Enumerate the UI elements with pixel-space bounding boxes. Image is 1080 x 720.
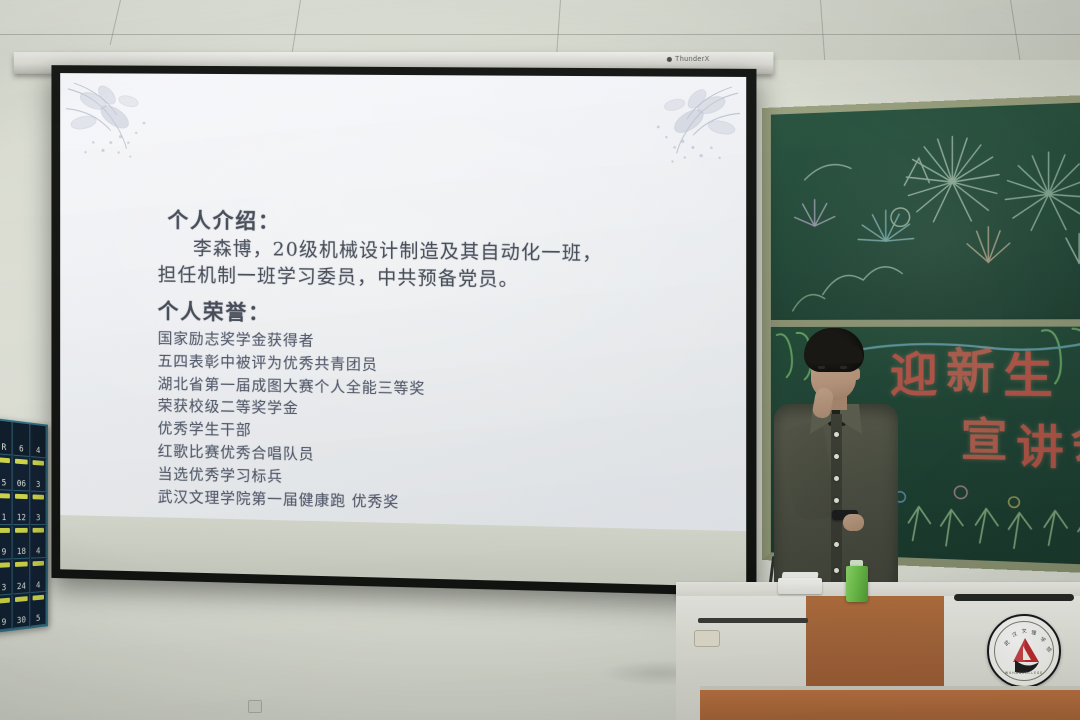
- number-cell: 24: [14, 560, 30, 594]
- shirt-button: [834, 476, 839, 481]
- blackboard-chalk-character: 新: [946, 347, 995, 395]
- number-cell: 9: [0, 526, 13, 560]
- podium-control-panel[interactable]: [694, 630, 720, 647]
- presenter-eye-left: [818, 366, 825, 369]
- number-cell: 18: [14, 526, 30, 560]
- projected-slide: 个人介绍： 李森博，20级机械设计制造及其自动化一班， 担任机制一班学习委员，中…: [60, 73, 746, 531]
- list-item: 武汉文理学院第一届健康跑 优秀奖: [158, 485, 426, 514]
- presenter-hand-holding: [843, 514, 864, 531]
- housing-brand-label: ThunderX: [667, 56, 710, 63]
- shirt-button: [834, 454, 839, 459]
- slide-body-line-2: 担任机制一班学习委员，中共预备党员。: [158, 262, 519, 294]
- number-cell: 3: [0, 561, 13, 596]
- presenter-eye-right: [840, 366, 847, 369]
- podium-dark-strip: [954, 594, 1074, 601]
- number-cell: R: [0, 420, 13, 456]
- number-cell: 5: [31, 592, 47, 626]
- number-cell: 4: [31, 559, 47, 593]
- shirt-button: [834, 568, 839, 573]
- slide-text-block: 个人介绍： 李森博，20级机械设计制造及其自动化一班， 担任机制一班学习委员，中…: [60, 73, 746, 531]
- firework-chalk-icon: [771, 101, 1080, 320]
- projection-screen-frame: 个人介绍： 李森博，20级机械设计制造及其自动化一班， 担任机制一班学习委员，中…: [51, 65, 756, 596]
- blackboard-chalk-character: 讲: [1016, 425, 1064, 472]
- podium-handle-slot[interactable]: [698, 618, 808, 623]
- slide-heading-honors: 个人荣誉：: [158, 295, 271, 326]
- number-cell: 6: [14, 422, 30, 457]
- blackboard-upper-panel: [771, 102, 1080, 320]
- svg-text:汉: 汉: [1011, 630, 1019, 638]
- wall-number-board: R 6 4 5 06 3 1 12 3 9 18 4 3 24 4 9 30 5: [0, 418, 48, 633]
- number-cell: 3: [31, 458, 47, 492]
- shirt-button: [834, 498, 839, 503]
- classroom-scene: R 6 4 5 06 3 1 12 3 9 18 4 3 24 4 9 30 5: [0, 0, 1080, 720]
- slide-honors-list: 国家励志奖学金获得者 五四表彰中被评为优秀共青团员 湖北省第一届成图大赛个人全能…: [158, 327, 426, 514]
- blackboard-chalk-character: 会: [1070, 419, 1080, 466]
- number-cell: 06: [14, 457, 30, 491]
- dot-icon: [667, 57, 672, 62]
- number-cell: 1: [0, 491, 13, 525]
- svg-text:院: 院: [1045, 645, 1053, 654]
- svg-text:文: 文: [1021, 627, 1027, 635]
- wall-socket: [248, 700, 262, 713]
- svg-text:武: 武: [1003, 639, 1011, 648]
- svg-text:W U H A N C O L L E G E: W U H A N C O L L E G E: [1005, 671, 1042, 675]
- white-device-box-icon: [778, 578, 822, 594]
- slide-heading-introduction: 个人介绍：: [168, 204, 281, 235]
- number-cell: 9: [0, 595, 13, 631]
- number-cell: 4: [31, 424, 47, 458]
- svg-text:学: 学: [1039, 636, 1047, 645]
- number-cell: 12: [14, 491, 30, 525]
- presenter-person: [770, 328, 902, 600]
- shirt-button: [834, 432, 839, 437]
- number-cell: 5: [0, 455, 13, 490]
- svg-text:理: 理: [1031, 630, 1037, 637]
- green-beverage-bottle-icon: [846, 566, 868, 602]
- number-cell: 4: [31, 526, 47, 559]
- presenter-hair-fringe: [805, 344, 863, 363]
- front-desk: [700, 690, 1080, 720]
- blackboard-chalk-character: 宣: [961, 418, 1008, 465]
- school-emblem-icon: 武 汉 文 理 学 院 W U H A N C O L L E G E: [987, 614, 1061, 688]
- housing-brand-text: ThunderX: [675, 56, 710, 63]
- blackboard-chalk-character: 生: [1003, 352, 1053, 401]
- shirt-button: [834, 542, 839, 547]
- number-cell: 3: [31, 492, 47, 525]
- number-cell: 30: [14, 594, 30, 629]
